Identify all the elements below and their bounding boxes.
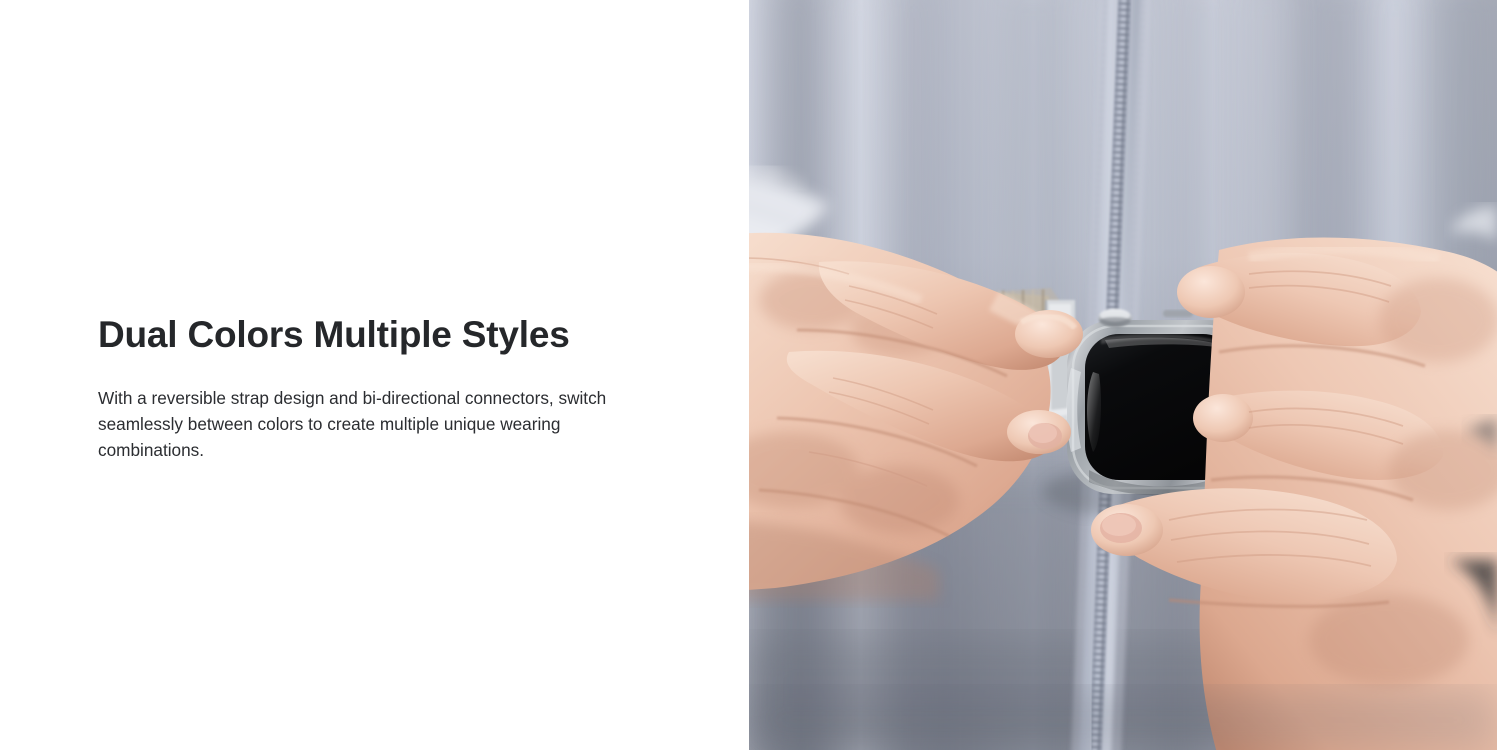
product-photo bbox=[749, 0, 1497, 750]
product-photo-illustration bbox=[749, 0, 1497, 750]
feature-headline: Dual Colors Multiple Styles bbox=[98, 312, 638, 358]
text-panel: Dual Colors Multiple Styles With a rever… bbox=[0, 0, 749, 750]
feature-description: With a reversible strap design and bi-di… bbox=[98, 358, 623, 463]
copy-block: Dual Colors Multiple Styles With a rever… bbox=[98, 312, 638, 463]
product-feature-section: Dual Colors Multiple Styles With a rever… bbox=[0, 0, 1497, 750]
